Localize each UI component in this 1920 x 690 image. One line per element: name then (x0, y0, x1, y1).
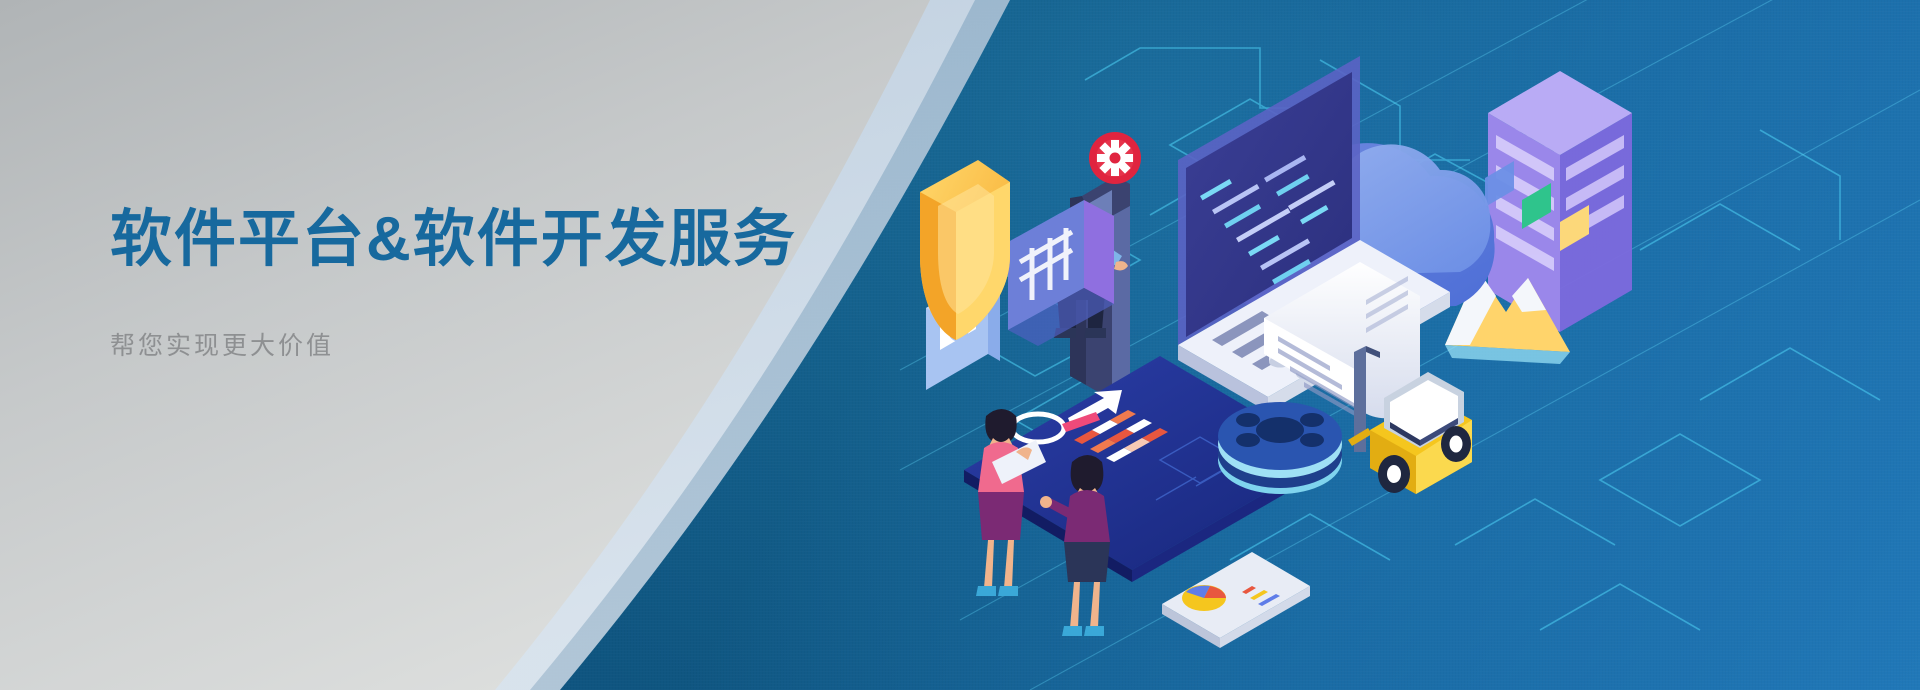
illustration-isometric-software-scene (860, 0, 1920, 690)
page-subtitle: 帮您实现更大价值 (110, 326, 797, 362)
banner-text-block: 软件平台&软件开发服务 帮您实现更大价值 (110, 205, 797, 362)
gear-stack-icon (1218, 402, 1342, 494)
hero-banner: 软件平台&软件开发服务 帮您实现更大价值 (0, 0, 1920, 690)
document-panel (1485, 71, 1632, 332)
page-title: 软件平台&软件开发服务 (110, 205, 797, 274)
pie-report-card (1162, 552, 1310, 648)
gear-badge-icon (1089, 132, 1141, 184)
